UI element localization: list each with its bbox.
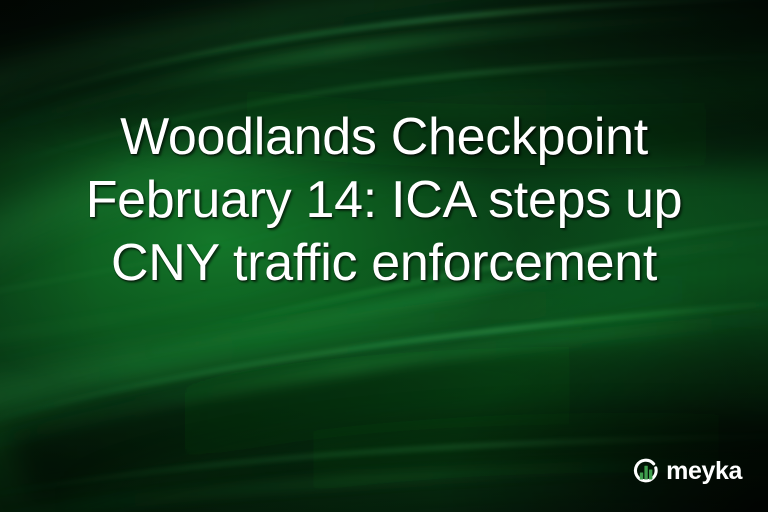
meyka-logo[interactable]: meyka (631, 456, 742, 486)
meyka-ring-bars-icon (631, 456, 661, 486)
logo-wordmark: meyka (666, 459, 742, 484)
headline: Woodlands Checkpoint February 14: ICA st… (0, 106, 768, 295)
headline-line-3: CNY traffic enforcement (26, 232, 742, 295)
logo-bar-left (640, 473, 643, 480)
logo-bar-middle (645, 466, 648, 480)
social-media-card: Woodlands Checkpoint February 14: ICA st… (0, 0, 768, 512)
headline-line-2: February 14: ICA steps up (26, 169, 742, 232)
headline-line-1: Woodlands Checkpoint (26, 106, 742, 169)
logo-bar-right (649, 470, 652, 480)
